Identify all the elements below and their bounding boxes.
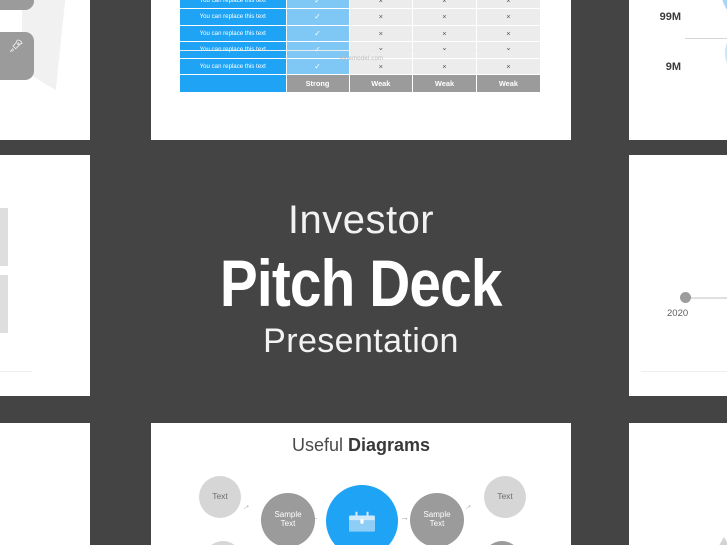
footer-strength: Weak — [349, 75, 413, 92]
footer-strength: Weak — [476, 75, 540, 92]
bottom-right-caption: You can rep this text — [677, 499, 727, 518]
cell-cross: × — [476, 9, 540, 26]
timeline-slider-track[interactable] — [685, 297, 727, 299]
slide-thumbnail-bottom-right[interactable]: You can rep this text — [629, 423, 727, 545]
rocket-icon — [8, 38, 24, 54]
node-right-inner-line2: Text — [430, 519, 445, 528]
node-left-inner-line1: Sample — [274, 510, 301, 519]
timeline-slider-value: 2020 — [667, 308, 688, 319]
diagram-title-bold: Diagrams — [348, 435, 430, 455]
cell-cross: × — [349, 0, 413, 9]
diagram-node-right-inner[interactable]: Sample Text — [410, 493, 464, 545]
diagram-node-left-lower[interactable] — [204, 541, 242, 545]
node-right-inner-line1: Sample — [423, 510, 450, 519]
slide-thumbnail-bottom-center[interactable]: Useful Diagrams Text Sample Text Sample … — [151, 423, 571, 545]
cell-cross: × — [413, 25, 477, 42]
cell-check: ✓ — [286, 0, 349, 9]
row-label: You can replace this text — [180, 0, 286, 9]
slide-thumbnail-top-left[interactable]: ple text. Insert text here. ple text. In… — [0, 0, 90, 140]
footer-label — [180, 75, 286, 92]
table-row: You can replace this text ✓ × × × — [180, 9, 540, 26]
panel-divider — [0, 371, 32, 372]
cell-check: ✓ — [286, 25, 349, 42]
slide-footer-brand: slidemodel.com — [151, 56, 571, 62]
speech-card-2[interactable]: ple text. Insert text here. — [0, 32, 34, 80]
diagram-node-right-lower[interactable] — [483, 541, 521, 545]
leader-line-2 — [685, 38, 727, 39]
cell-cross: × — [413, 9, 477, 26]
slide-thumbnail-bottom-left[interactable]: ext — [0, 423, 90, 545]
timeline-slider-knob[interactable] — [680, 292, 691, 303]
panel-divider — [641, 371, 727, 372]
hero-line-investor: Investor — [288, 200, 434, 240]
diagram-arrow-right: → — [461, 499, 474, 512]
hero-title-block: Investor Pitch Deck Presentation — [151, 155, 571, 403]
hero-line-pitch-deck: Pitch Deck — [220, 250, 502, 316]
diagram-arrow-mid-right: → — [400, 512, 409, 522]
hero-line-presentation: Presentation — [263, 324, 459, 358]
row-label: You can replace this text — [180, 25, 286, 42]
placeholder-box-2: xt — [0, 275, 8, 333]
cell-check: ✓ — [286, 9, 349, 26]
speech-card-1[interactable]: ple text. Insert text here. — [0, 0, 34, 10]
briefcase-icon — [347, 509, 377, 533]
footer-divider — [180, 50, 540, 51]
placeholder-box-1: xt — [0, 208, 8, 266]
slide-thumbnail-top-center[interactable]: You can replace this text ✓ × × × You ca… — [151, 0, 571, 140]
diagram-arrow-mid-left: ← — [310, 512, 319, 522]
slide-grid-canvas: ple text. Insert text here. ple text. In… — [0, 0, 727, 545]
bubble-large — [721, 0, 727, 26]
placeholder-box-1-text: xt — [0, 232, 4, 238]
node-left-inner-line2: Text — [281, 519, 296, 528]
placeholder-box-2-text: xt — [0, 299, 4, 305]
diagram-node-right-outer[interactable]: Text — [484, 476, 526, 518]
footer-strength: Strong — [286, 75, 349, 92]
cell-cross: × — [349, 9, 413, 26]
table-row: You can replace this text ✓ × × × — [180, 0, 540, 9]
speech-card-2-line1: ple text. Insert — [0, 54, 27, 64]
triangle-shape — [709, 537, 727, 545]
table-row: You can replace this text ✓ × × × — [180, 25, 540, 42]
diagram-node-left-inner[interactable]: Sample Text — [261, 493, 315, 545]
comparison-table: You can replace this text ✓ × × × You ca… — [180, 0, 540, 92]
diagram-title-light: Useful — [292, 435, 348, 455]
diagram-arrow-left: → — [239, 499, 252, 512]
cell-cross: × — [476, 0, 540, 9]
slide-thumbnail-mid-right[interactable]: 2020 — [629, 155, 727, 396]
bubble-label-2: 9M — [633, 61, 681, 73]
diagram-hub-node[interactable] — [326, 485, 398, 545]
slide-thumbnail-top-right[interactable]: 99M 9M — [629, 0, 727, 140]
footer-strength: Weak — [413, 75, 477, 92]
cell-cross: × — [349, 25, 413, 42]
table-footer-row: Strong Weak Weak Weak — [180, 75, 540, 92]
speech-card-2-line2: text here. — [0, 64, 27, 74]
bubble-label-1: 99M — [633, 11, 681, 23]
cell-cross: × — [476, 25, 540, 42]
diagram-slide-title: Useful Diagrams — [151, 435, 571, 456]
cell-cross: × — [413, 0, 477, 9]
diagram-node-left-outer[interactable]: Text — [199, 476, 241, 518]
row-label: You can replace this text — [180, 9, 286, 26]
slide-thumbnail-mid-left[interactable]: xt xt — [0, 155, 90, 396]
